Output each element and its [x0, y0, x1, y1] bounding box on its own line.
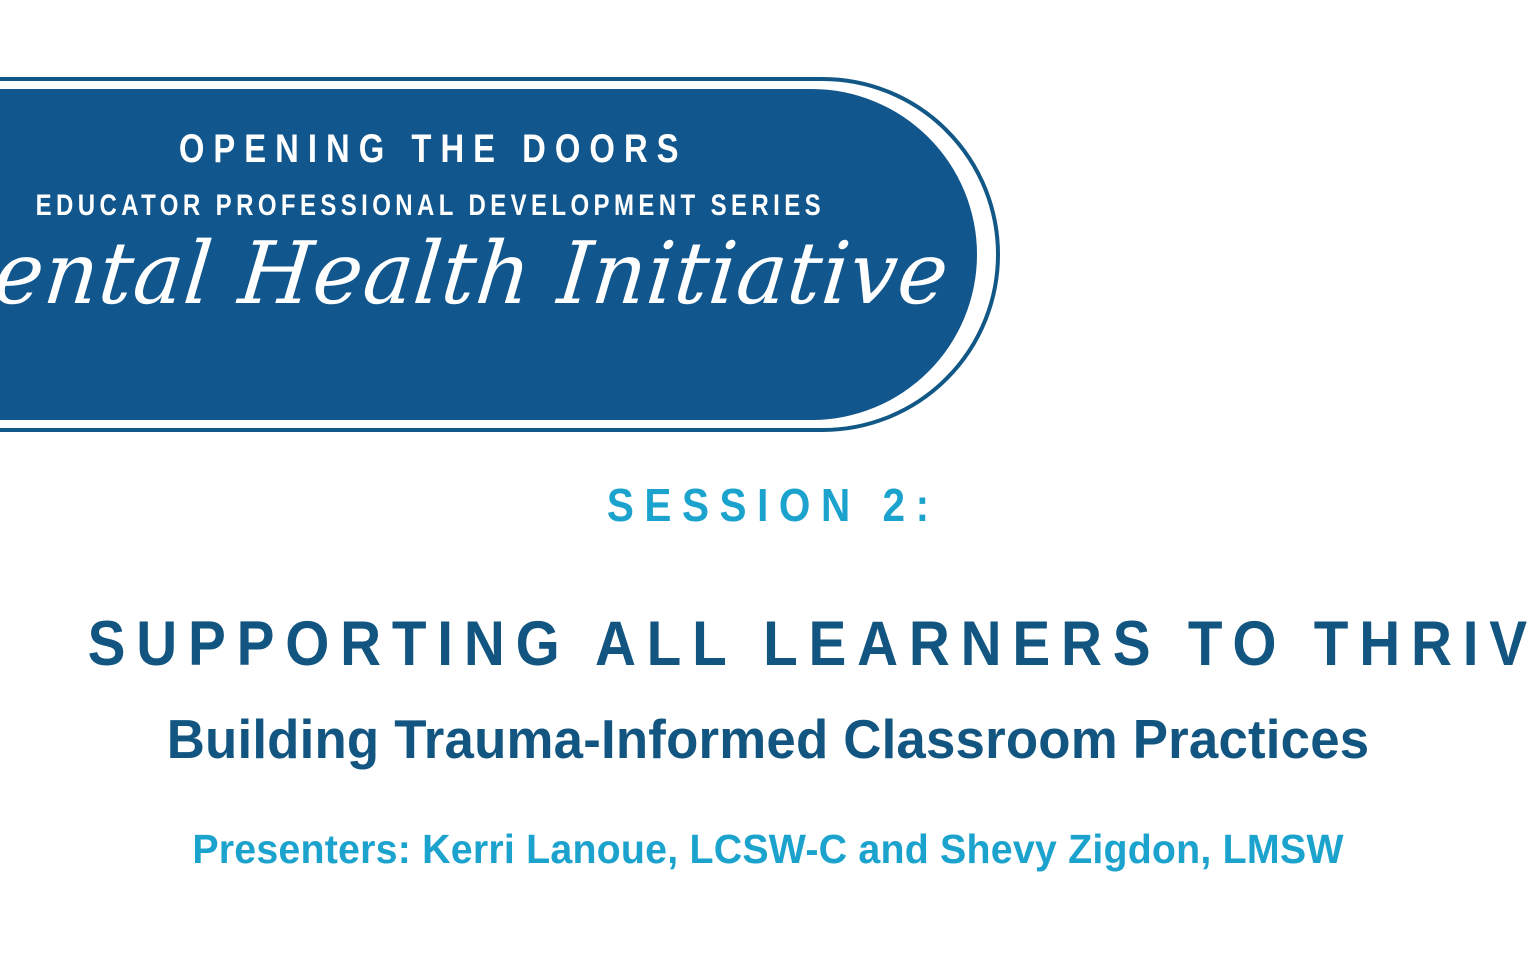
- session-label: SESSION 2:: [92, 482, 1444, 528]
- slide-body: SESSION 2: SUPPORTING ALL LEARNERS TO TH…: [0, 432, 1536, 870]
- banner-text-group: OPENING THE DOORS EDUCATOR PROFESSIONAL …: [0, 77, 977, 420]
- program-banner: OPENING THE DOORS EDUCATOR PROFESSIONAL …: [0, 77, 1000, 432]
- program-title: OPENING THE DOORS: [170, 129, 688, 169]
- presenters-line: Presenters: Kerri Lanoue, LCSW-C and She…: [31, 829, 1506, 870]
- program-subtitle: EDUCATOR PROFESSIONAL DEVELOPMENT SERIES: [32, 191, 826, 221]
- initiative-script-title: Mental Health Initiative: [0, 231, 953, 317]
- title-slide: OPENING THE DOORS EDUCATOR PROFESSIONAL …: [0, 0, 1536, 960]
- page-subtitle: Building Trauma-Informed Classroom Pract…: [31, 712, 1506, 767]
- page-title: SUPPORTING ALL LEARNERS TO THRIVE:: [77, 613, 1459, 676]
